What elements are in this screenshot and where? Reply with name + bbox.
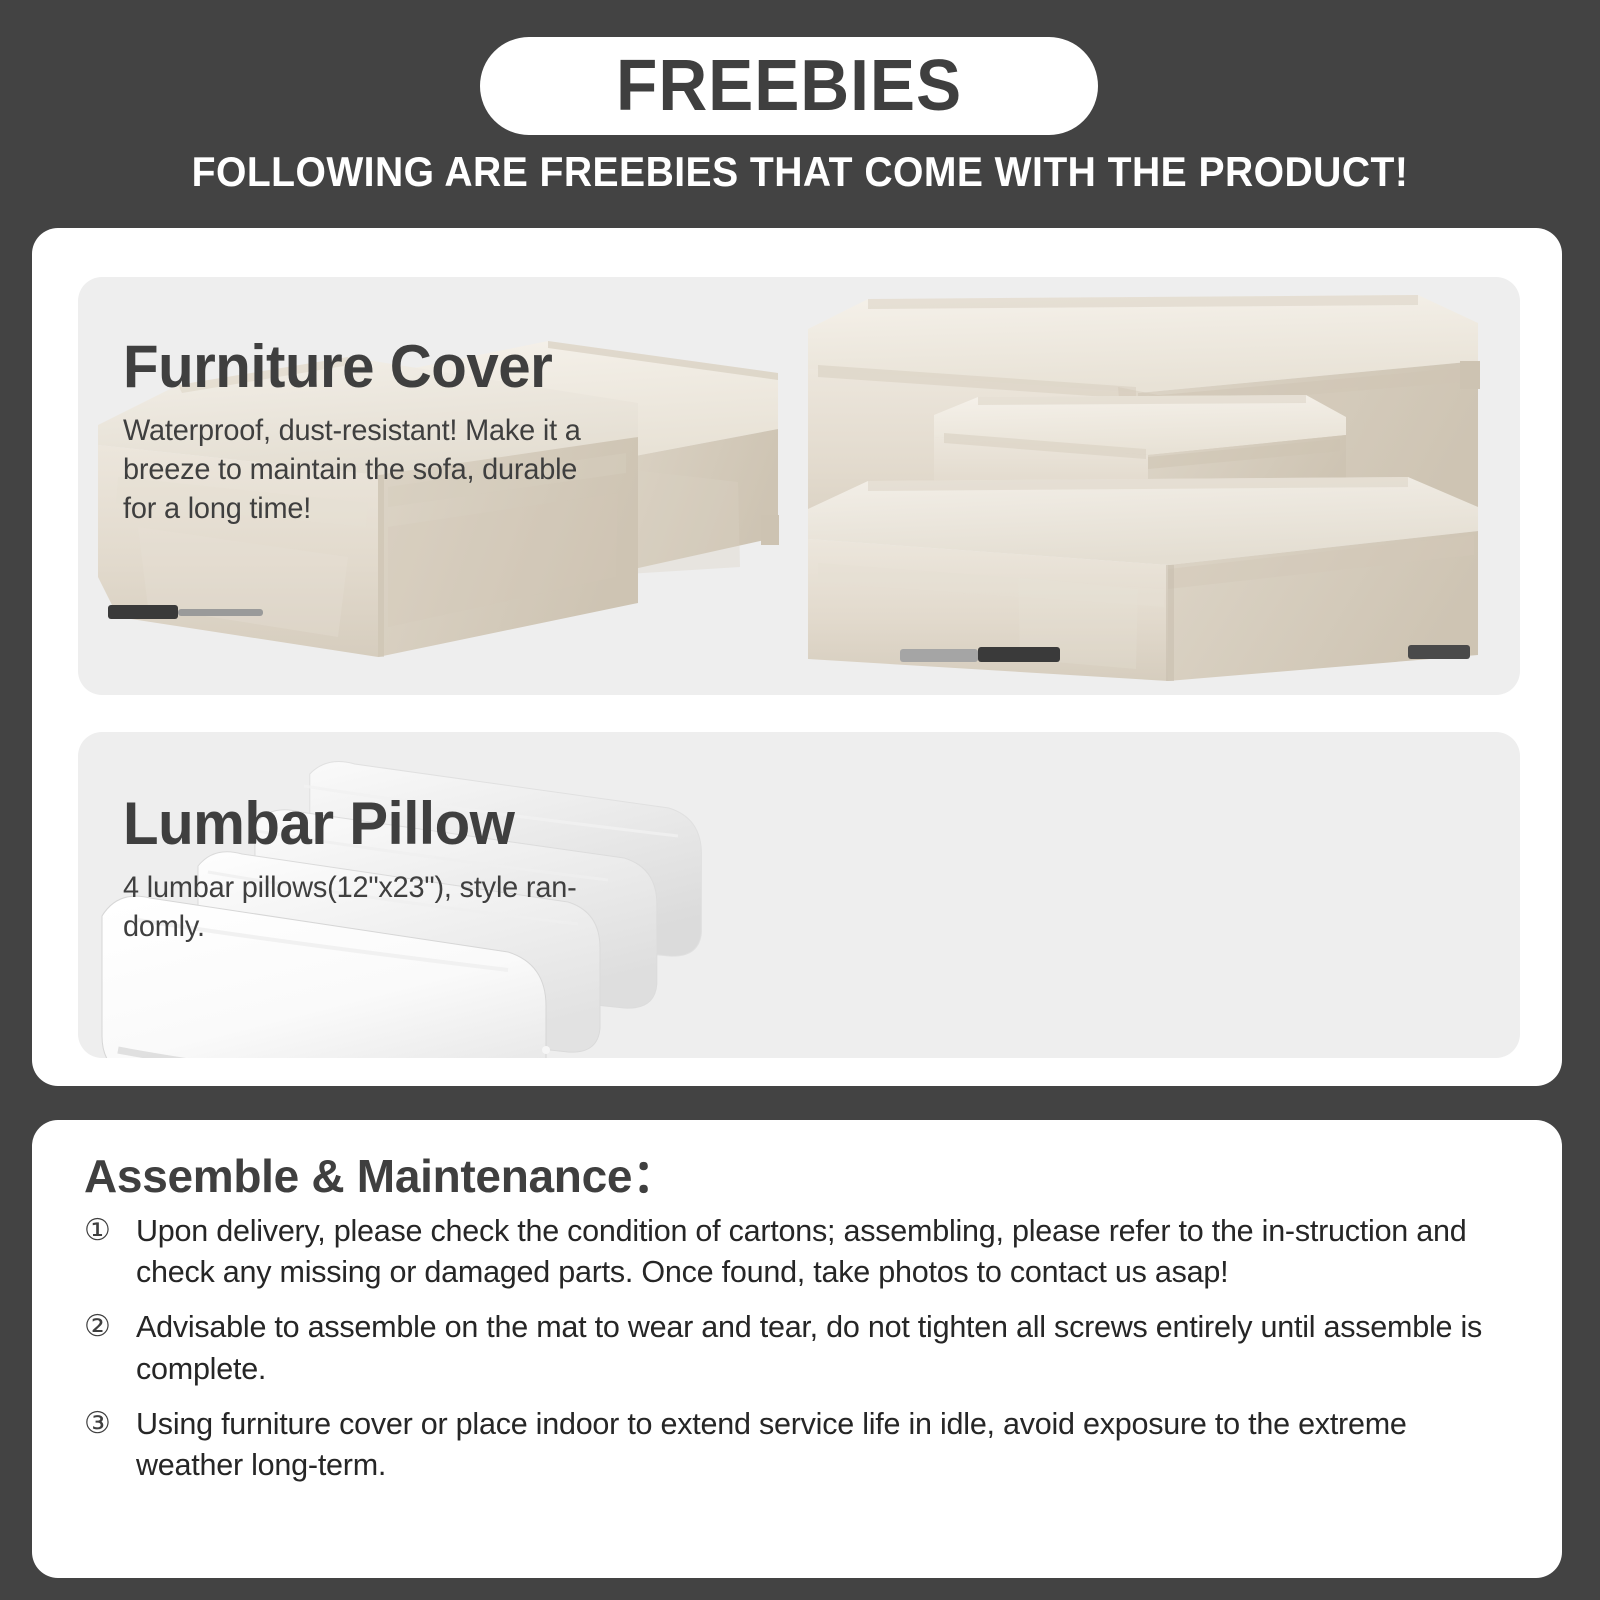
freebies-badge: FREEBIES: [480, 37, 1098, 135]
page-header: FREEBIES FOLLOWING ARE FREEBIES THAT COM…: [0, 0, 1600, 228]
furniture-cover-text-block: Furniture Cover Waterproof, dust-resista…: [123, 335, 723, 529]
list-item: ① Upon delivery, please check the condit…: [84, 1210, 1504, 1292]
lumbar-pillow-title: Lumbar Pillow: [123, 792, 705, 855]
list-item: ② Advisable to assemble on the mat to we…: [84, 1306, 1504, 1388]
furniture-cover-description: Waterproof, dust-resistant! Make it a br…: [123, 412, 711, 529]
freebie-panel-lumbar-pillow: Lumbar Pillow 4 lumbar pillows(12"x23"),…: [78, 732, 1520, 1058]
instruction-text: Using furniture cover or place indoor to…: [136, 1403, 1483, 1485]
circled-number-3-icon: ③: [84, 1403, 136, 1444]
assemble-maintenance-card: Assemble & Maintenance： ① Upon delivery,…: [32, 1120, 1562, 1578]
circled-number-1-icon: ①: [84, 1210, 136, 1251]
freebie-panel-furniture-cover: Furniture Cover Waterproof, dust-resista…: [78, 277, 1520, 695]
instruction-text: Upon delivery, please check the conditio…: [136, 1210, 1483, 1292]
lumbar-pillow-text-block: Lumbar Pillow 4 lumbar pillows(12"x23"),…: [123, 792, 723, 947]
lumbar-pillow-description: 4 lumbar pillows(12"x23"), style ran- do…: [123, 869, 711, 947]
freebies-card: Furniture Cover Waterproof, dust-resista…: [32, 228, 1562, 1086]
assemble-maintenance-title: Assemble & Maintenance：: [84, 1140, 678, 1206]
instruction-text: Advisable to assemble on the mat to wear…: [136, 1306, 1483, 1388]
list-item: ③ Using furniture cover or place indoor …: [84, 1403, 1504, 1485]
freebies-badge-label: FREEBIES: [616, 50, 962, 122]
furniture-cover-title: Furniture Cover: [123, 335, 705, 398]
circled-number-2-icon: ②: [84, 1306, 136, 1347]
header-subtitle: FOLLOWING ARE FREEBIES THAT COME WITH TH…: [56, 148, 1544, 196]
assemble-instruction-list: ① Upon delivery, please check the condit…: [84, 1210, 1504, 1499]
